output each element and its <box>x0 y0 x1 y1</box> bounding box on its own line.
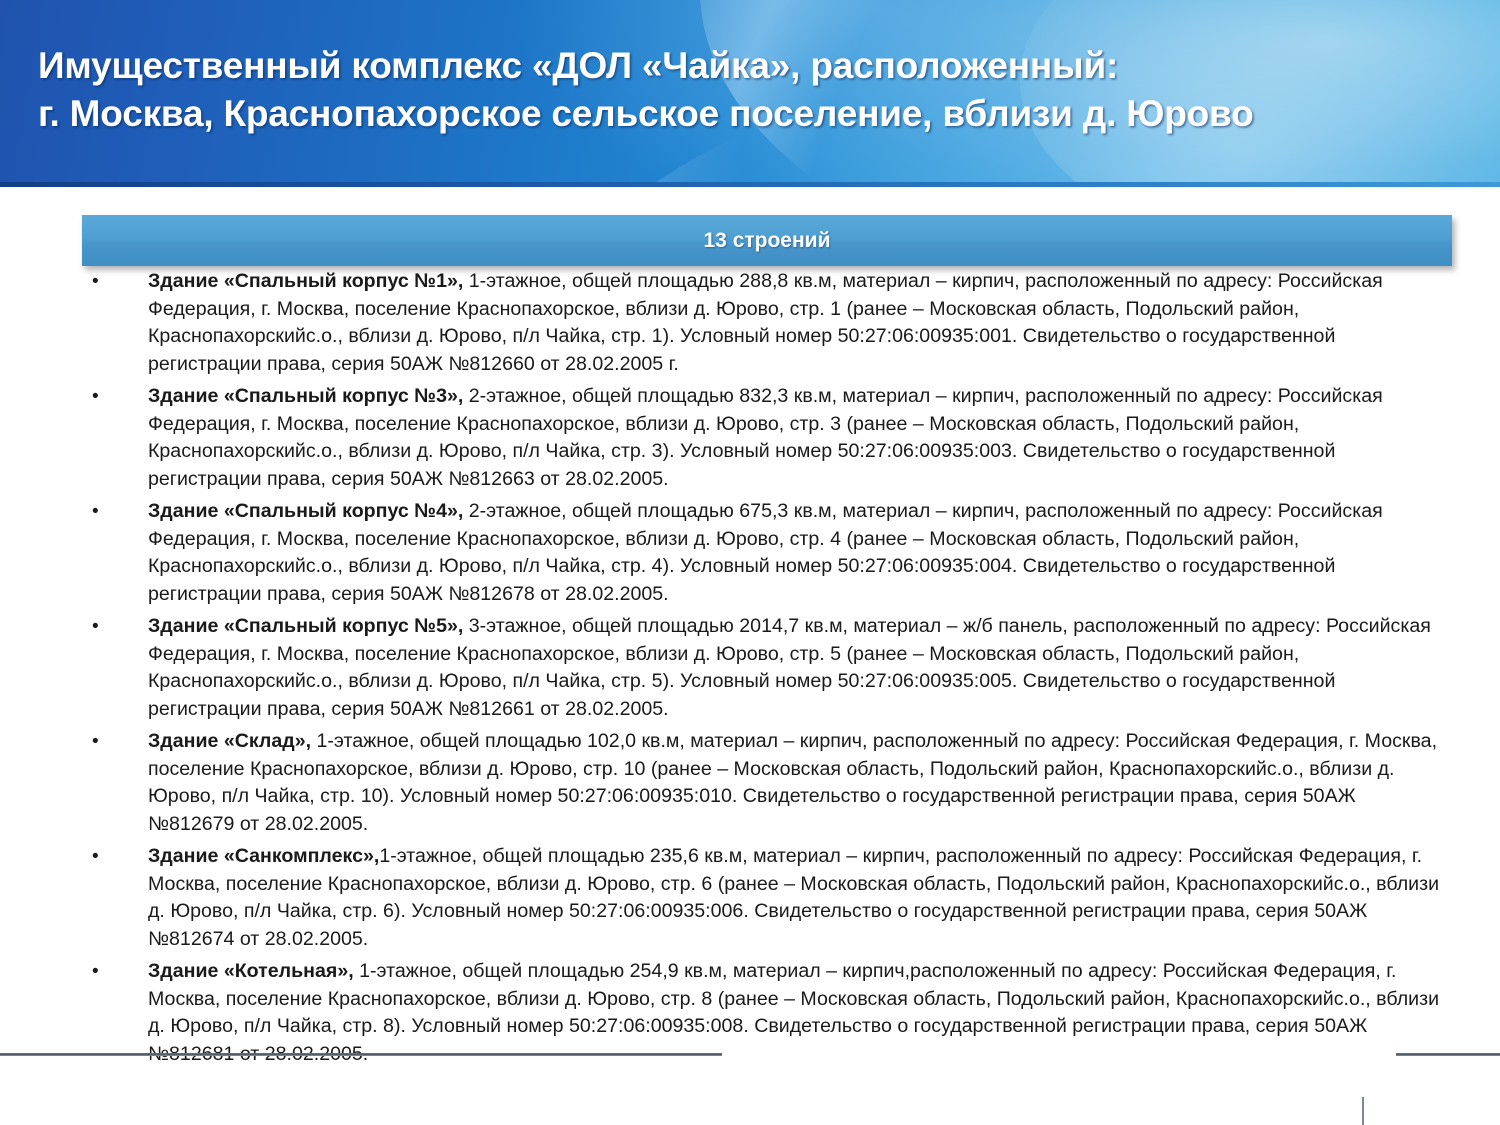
list-item-title: Здание «Котельная», <box>148 960 354 982</box>
bullet-marker-icon: • <box>92 843 106 871</box>
list-item-body: 1-этажное, общей площадью 102,0 кв.м, ма… <box>148 730 1437 835</box>
bullet-marker-icon: • <box>92 383 106 411</box>
list-item-title: Здание «Спальный корпус №4», <box>148 500 463 522</box>
list-item: • Здание «Спальный корпус №5», 3-этажное… <box>0 613 1500 723</box>
section-header-label: 13 строений <box>704 229 831 253</box>
bullet-marker-icon: • <box>92 268 106 296</box>
list-item-title: Здание «Спальный корпус №5», <box>148 615 463 637</box>
bullet-marker-icon: • <box>92 613 106 641</box>
list-item: • Здание «Спальный корпус №3», 2-этажное… <box>0 383 1500 493</box>
list-item-title: Здание «Спальный корпус №1», <box>148 270 463 292</box>
footer-divider-left <box>0 1053 722 1056</box>
bullet-marker-icon: • <box>92 958 106 986</box>
list-item: • Здание «Склад», 1-этажное, общей площа… <box>0 728 1500 838</box>
footer-divider-right <box>1396 1053 1500 1056</box>
footer-tick-mark <box>1362 1097 1364 1125</box>
page-title: Имущественный комплекс «ДОЛ «Чайка», рас… <box>38 42 1468 138</box>
slide-header-banner: Имущественный комплекс «ДОЛ «Чайка», рас… <box>0 0 1500 186</box>
list-item-title: Здание «Склад», <box>148 730 311 752</box>
section-header-bar: 13 строений <box>82 215 1452 266</box>
bullet-marker-icon: • <box>92 728 106 756</box>
bullet-marker-icon: • <box>92 498 106 526</box>
list-item-title: Здание «Санкомплекс», <box>148 845 379 867</box>
list-item-title: Здание «Спальный корпус №3», <box>148 385 463 407</box>
building-list: • Здание «Спальный корпус №1», 1-этажное… <box>0 268 1500 1073</box>
list-item: • Здание «Спальный корпус №1», 1-этажное… <box>0 268 1500 378</box>
list-item: • Здание «Санкомплекс»,1-этажное, общей … <box>0 843 1500 953</box>
list-item: • Здание «Котельная», 1-этажное, общей п… <box>0 958 1500 1068</box>
list-item: • Здание «Спальный корпус №4», 2-этажное… <box>0 498 1500 608</box>
header-underline-divider <box>0 182 1500 187</box>
